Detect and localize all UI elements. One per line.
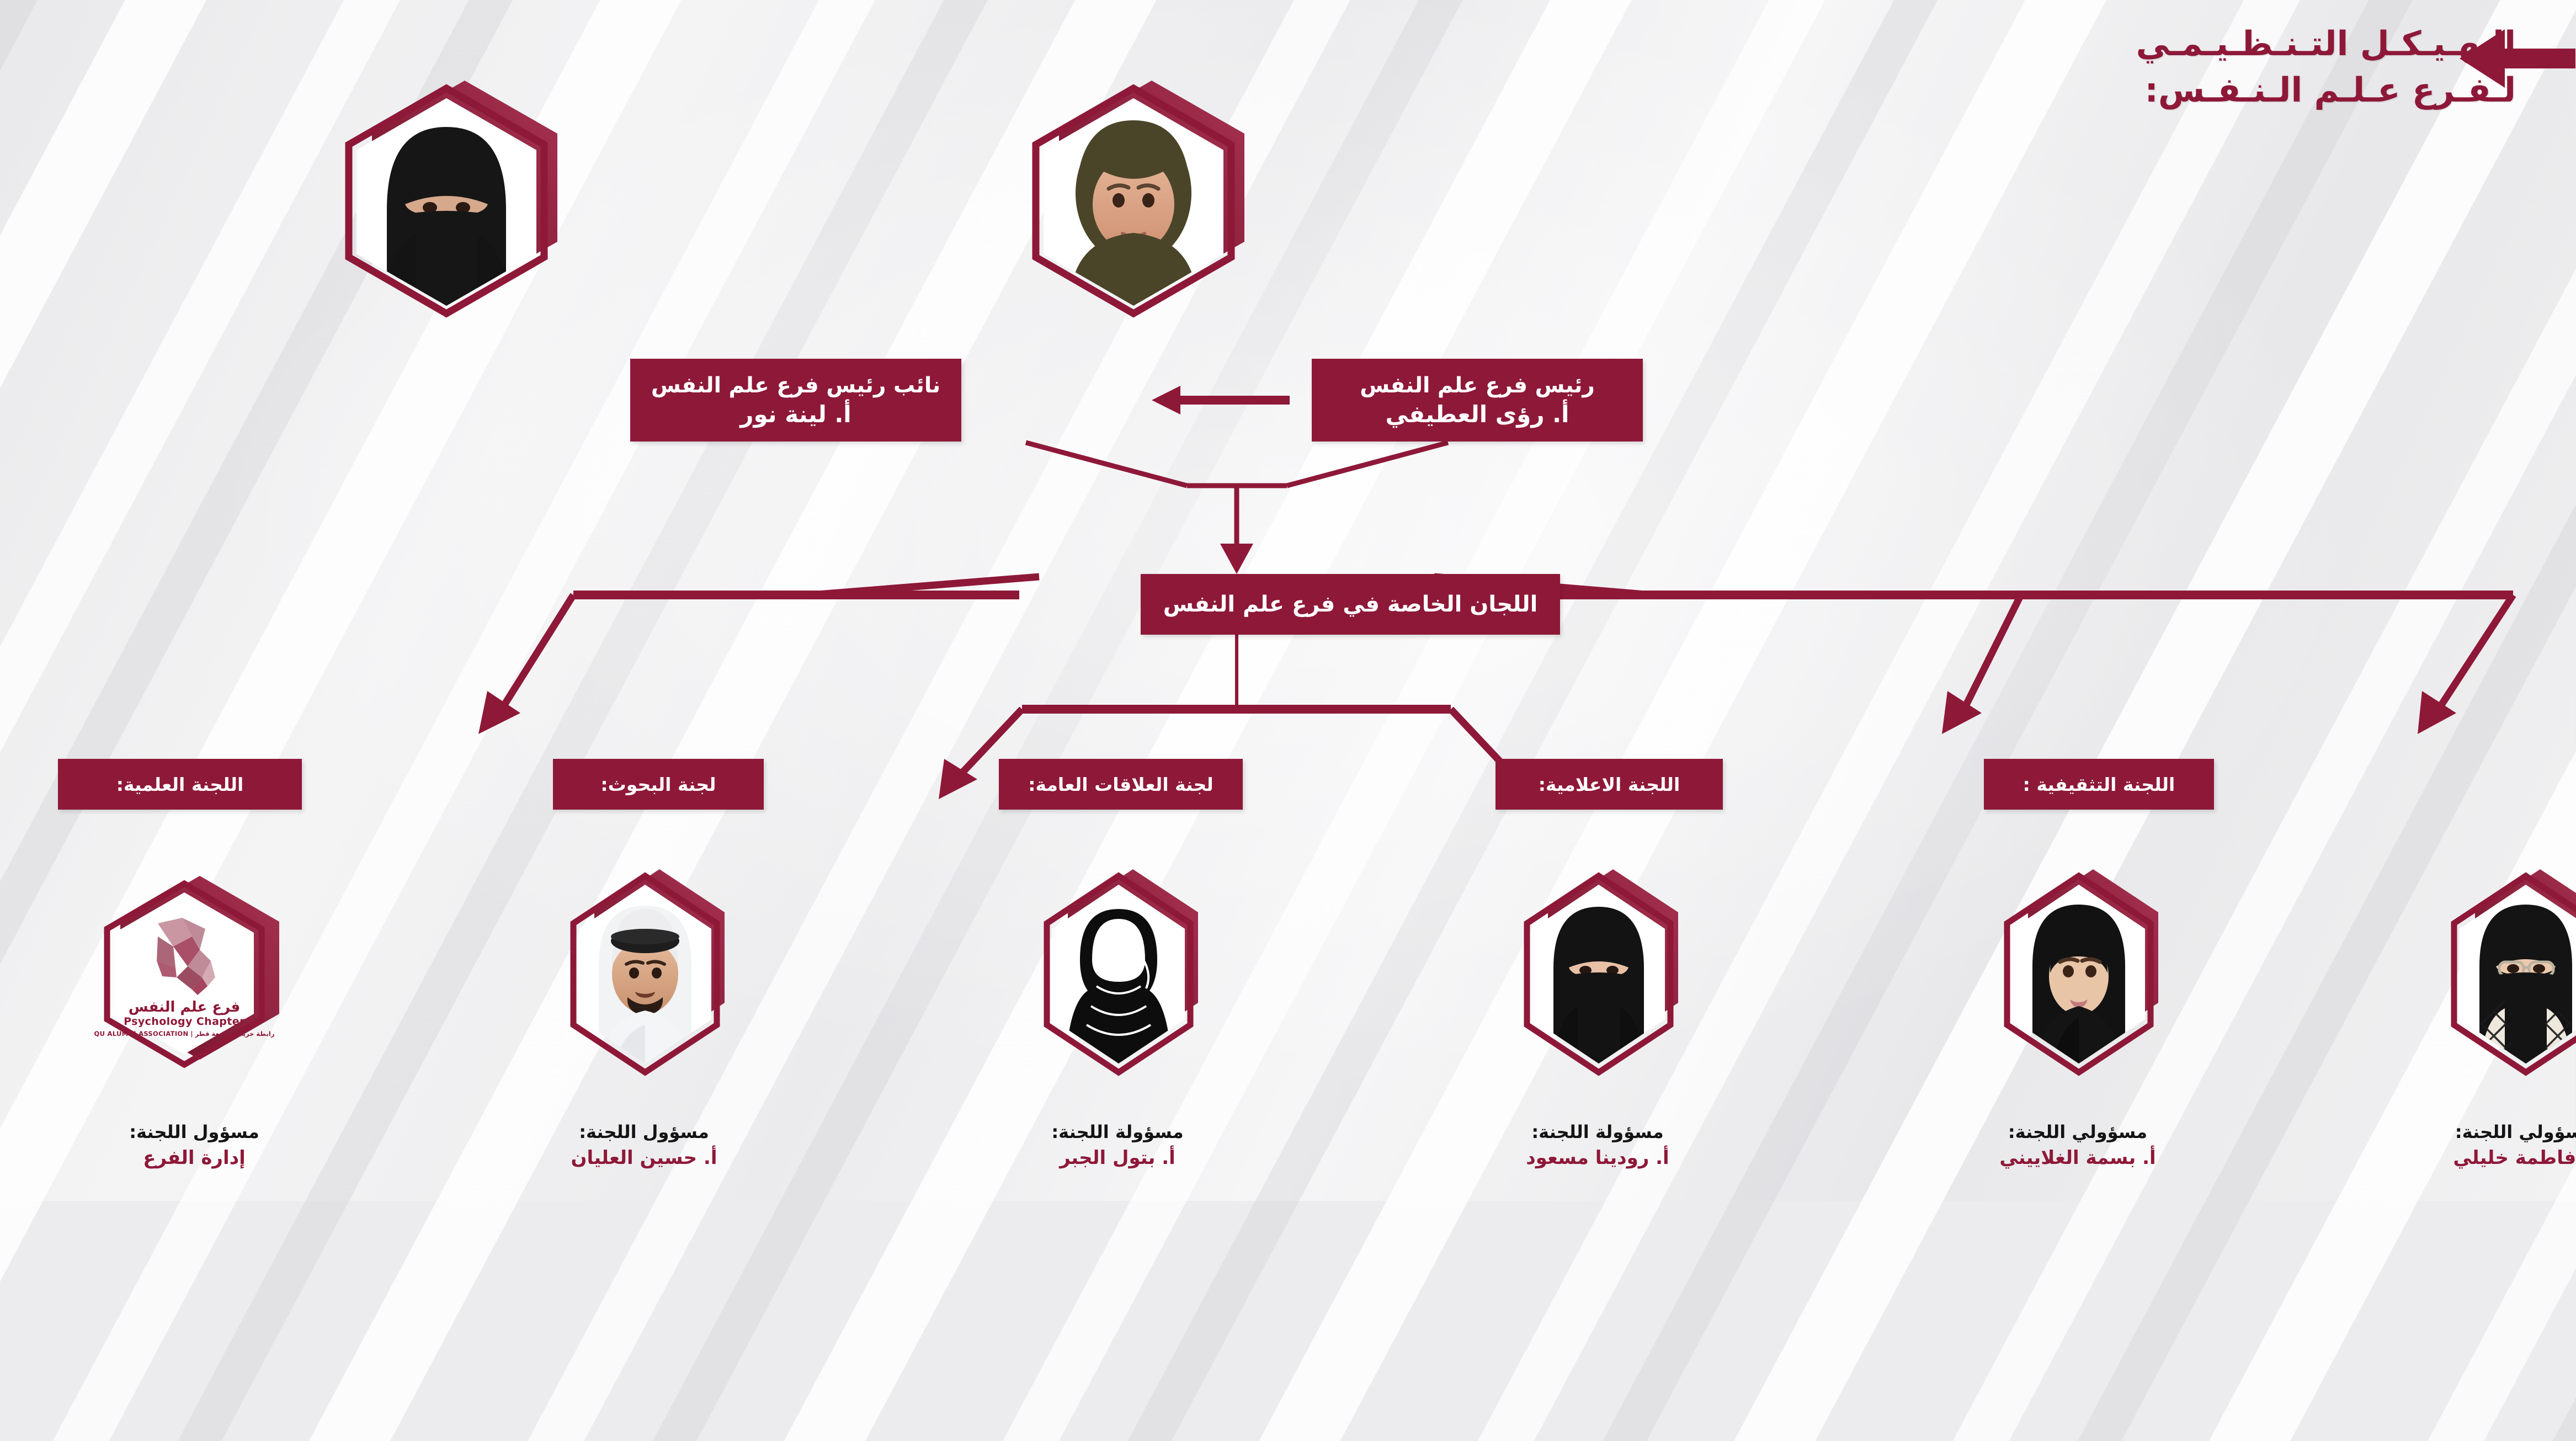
connector-outer-midright-diagonal: [1965, 595, 2021, 709]
caption-role-educational-a: مسؤولي اللجنة:: [1962, 1120, 2194, 1144]
role-box-vice-title: نائب رئيس فرع علم النفس: [652, 371, 941, 400]
caption-committee-educational-b: مسؤولي اللجنة: أ. فاطمة خليلي: [2409, 1120, 2576, 1171]
avatar-committee-scientific-logo: فرع علم النفس Psychology Chapter رابطة خ…: [74, 864, 295, 1084]
role-box-vice-chair[interactable]: نائب رئيس فرع علم النفس أ. لينة نور: [631, 359, 962, 442]
caption-committee-media: مسؤولة اللجنة: أ. رودينا مسعود: [1482, 1120, 1714, 1171]
connector-outer-left-diagonal: [502, 595, 574, 709]
avatar-committee-public-relations: [1009, 858, 1230, 1090]
avatar-committee-educational-b: [2416, 858, 2576, 1090]
caption-committee-scientific: مسؤول اللجنة: إدارة الفرع: [79, 1120, 311, 1171]
caption-name-scientific: إدارة الفرع: [79, 1146, 311, 1171]
committee-box-media[interactable]: اللجنة الاعلامية:: [1496, 759, 1723, 810]
committee-label-scientific: اللجنة العلمية:: [117, 774, 244, 795]
avatar-committee-research: [535, 858, 756, 1090]
caption-committee-public-relations: مسؤولة اللجنة: أ. بتول الجبر: [1002, 1120, 1234, 1171]
logo-text-english: Psychology Chapter: [124, 1015, 246, 1028]
connector-vice-to-hub: [1026, 443, 1188, 486]
caption-name-research: أ. حسين العليان: [529, 1146, 760, 1171]
page-title-line-2: لـفـرع عـلـم الـنـفـس:: [2137, 67, 2516, 114]
caption-name-media: أ. رودينا مسعود: [1482, 1146, 1714, 1171]
role-box-chair-name: أ. رؤى العطيفي: [1386, 400, 1569, 429]
avatar-committee-educational-a: [1969, 858, 2190, 1090]
caption-role-media: مسؤولة اللجنة:: [1482, 1120, 1714, 1144]
caption-role-scientific: مسؤول اللجنة:: [79, 1120, 311, 1144]
caption-name-educational-b: أ. فاطمة خليلي: [2409, 1146, 2576, 1171]
role-box-chair[interactable]: رئيس فرع علم النفس أ. رؤى العطيفي: [1312, 359, 1643, 442]
caption-role-educational-b: مسؤولي اللجنة:: [2409, 1120, 2576, 1144]
caption-name-public-relations: أ. بتول الجبر: [1002, 1146, 1234, 1171]
avatar-vice-chair: [317, 66, 577, 326]
committees-hub-label: اللجان الخاصة في فرع علم النفس: [1164, 592, 1539, 617]
committee-box-scientific[interactable]: اللجنة العلمية:: [58, 759, 302, 810]
connector-outer-right-diagonal: [2439, 595, 2514, 709]
avatar-committee-media: [1489, 858, 1710, 1090]
caption-committee-educational-a: مسؤولي اللجنة: أ. بسمة الغلاييني: [1962, 1120, 2194, 1171]
arrow-left-icon: [2460, 26, 2576, 93]
arrow-icon-committee-educational: [479, 691, 521, 734]
committee-label-research: لجنة البحوث:: [601, 774, 716, 795]
role-box-vice-name: أ. لينة نور: [741, 400, 851, 429]
caption-role-public-relations: مسؤولة اللجنة:: [1002, 1120, 1234, 1144]
committee-label-public-relations: لجنة العلاقات العامة:: [1029, 774, 1214, 795]
connector-chair-to-hub: [1287, 443, 1449, 486]
committee-box-research[interactable]: لجنة البحوث:: [553, 759, 764, 810]
committee-box-educational[interactable]: اللجنة التثقيفية :: [1984, 759, 2215, 810]
committee-box-public-relations[interactable]: لجنة العلاقات العامة:: [999, 759, 1243, 810]
committee-label-educational: اللجنة التثقيفية :: [2024, 774, 2176, 795]
role-box-chair-title: رئيس فرع علم النفس: [1360, 371, 1595, 400]
page-title-line-1: الـهـيـكـل التـنـظـيـمـي: [2137, 21, 2516, 67]
caption-committee-research: مسؤول اللجنة: أ. حسين العليان: [529, 1120, 760, 1171]
logo-text-sub: رابطة خريجي جامعة قطر | QU ALUMNI ASSOCI…: [95, 1030, 275, 1038]
logo-text-arabic: فرع علم النفس: [129, 999, 241, 1015]
committee-label-media: اللجنة الاعلامية:: [1539, 774, 1681, 795]
caption-name-educational-a: أ. بسمة الغلاييني: [1962, 1146, 2194, 1171]
caption-role-research: مسؤول اللجنة:: [529, 1120, 760, 1144]
avatar-chair: [1004, 66, 1264, 326]
arrow-icon-committee-research: [1942, 691, 1982, 734]
committees-hub-box[interactable]: اللجان الخاصة في فرع علم النفس: [1141, 574, 1561, 635]
arrow-left-icon-chair-to-vice: [1152, 384, 1290, 417]
page-title: الـهـيـكـل التـنـظـيـمـي لـفـرع عـلـم ال…: [2137, 21, 2516, 114]
arrow-down-icon-hub: [1221, 544, 1254, 574]
